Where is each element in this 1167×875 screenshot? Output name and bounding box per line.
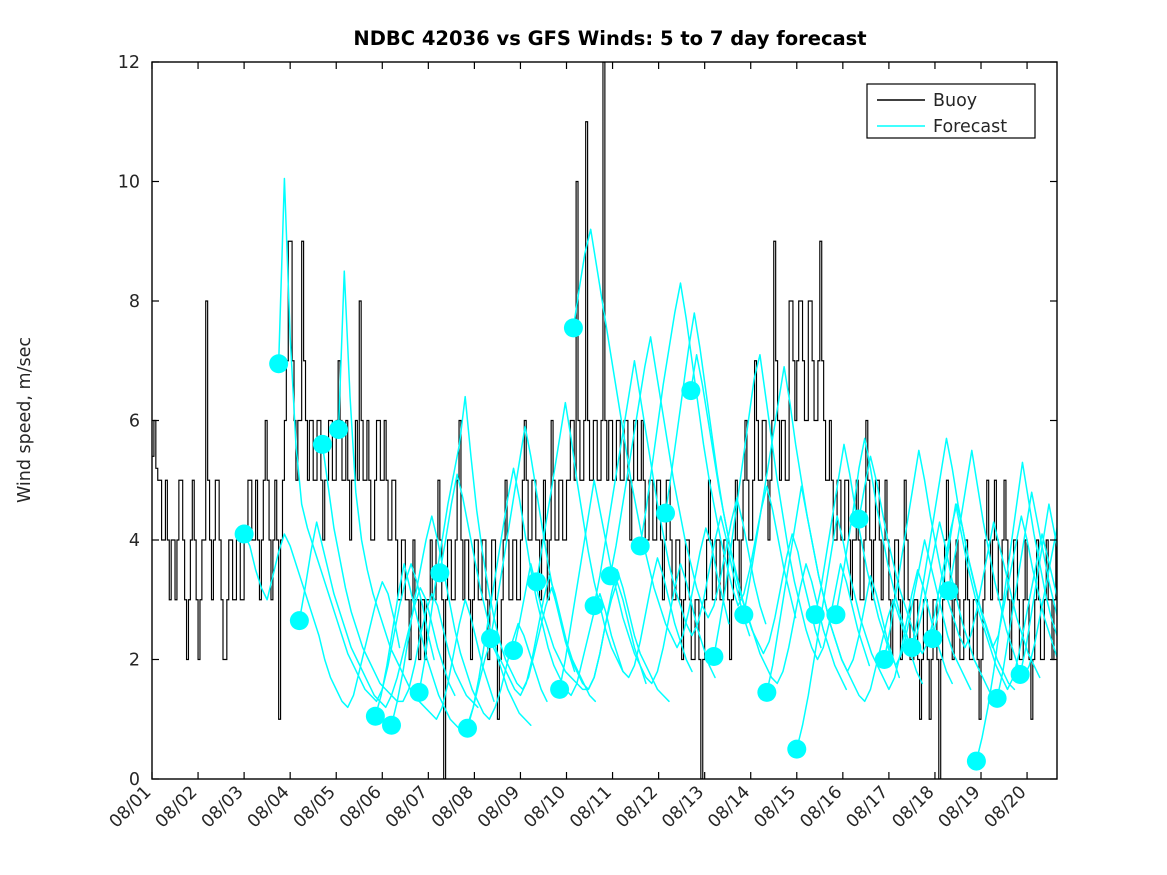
- x-tick-label: 08/11: [566, 782, 616, 832]
- forecast-start-marker: [430, 563, 449, 582]
- y-tick-label: 8: [129, 292, 140, 312]
- x-tick-label: 08/20: [981, 782, 1031, 832]
- forecast-start-marker: [704, 647, 723, 666]
- forecast-start-marker: [481, 629, 500, 648]
- forecast-start-marker: [269, 354, 288, 373]
- x-tick-label: 08/10: [520, 782, 570, 832]
- wind-speed-chart: NDBC 42036 vs GFS Winds: 5 to 7 day fore…: [0, 0, 1167, 875]
- chart-legend[interactable]: BuoyForecast: [867, 84, 1035, 138]
- forecast-start-marker: [656, 504, 675, 523]
- x-tick-label: 08/02: [152, 782, 202, 832]
- forecast-start-marker: [826, 605, 845, 624]
- forecast-start-marker: [564, 318, 583, 337]
- y-tick-label: 6: [129, 412, 140, 432]
- forecast-start-marker: [681, 381, 700, 400]
- x-tick-label: 08/03: [198, 782, 248, 832]
- forecast-start-marker: [550, 680, 569, 699]
- forecast-start-marker: [967, 752, 986, 771]
- x-tick-label: 08/04: [244, 782, 294, 832]
- x-tick-label: 08/13: [658, 782, 708, 832]
- y-tick-label: 12: [118, 53, 140, 73]
- forecast-start-marker: [734, 605, 753, 624]
- x-tick-label: 08/18: [889, 782, 939, 832]
- forecast-run-12: [537, 403, 692, 678]
- forecast-start-marker: [527, 572, 546, 591]
- x-tick-label: 08/19: [935, 782, 985, 832]
- x-axis-ticks: 08/0108/0208/0308/0408/0508/0608/0708/08…: [106, 62, 1031, 832]
- forecast-start-marker: [504, 641, 523, 660]
- y-axis-label: Wind speed, m/sec: [15, 337, 35, 503]
- x-tick-label: 08/12: [612, 782, 662, 832]
- forecast-start-marker: [235, 525, 254, 544]
- legend-label-buoy: Buoy: [933, 91, 977, 111]
- forecast-start-marker: [988, 689, 1007, 708]
- forecast-start-marker: [902, 638, 921, 657]
- forecast-start-marker: [631, 536, 650, 555]
- y-tick-label: 4: [129, 531, 140, 551]
- forecast-start-marker: [787, 740, 806, 759]
- forecast-start-marker: [290, 611, 309, 630]
- forecast-start-marker: [585, 596, 604, 615]
- forecast-run-0: [244, 534, 399, 707]
- forecast-start-marker: [806, 605, 825, 624]
- forecast-start-marker: [313, 435, 332, 454]
- x-tick-label: 08/09: [474, 782, 524, 832]
- forecast-start-marker: [939, 581, 958, 600]
- x-tick-label: 08/16: [797, 782, 847, 832]
- x-tick-label: 08/17: [843, 782, 893, 832]
- figure-canvas: NDBC 42036 vs GFS Winds: 5 to 7 day fore…: [0, 0, 1167, 875]
- y-tick-label: 10: [118, 173, 140, 193]
- forecast-start-marker: [329, 420, 348, 439]
- forecast-start-marker: [601, 566, 620, 585]
- x-tick-label: 08/15: [751, 782, 801, 832]
- forecast-start-marker: [1011, 665, 1030, 684]
- forecast-start-marker: [849, 510, 868, 529]
- forecast-start-marker: [875, 650, 894, 669]
- x-tick-label: 08/14: [704, 782, 754, 832]
- forecast-start-markers: [235, 318, 1030, 770]
- y-tick-label: 2: [129, 651, 140, 671]
- forecast-start-marker: [410, 683, 429, 702]
- forecast-start-marker: [382, 716, 401, 735]
- x-tick-label: 08/08: [428, 782, 478, 832]
- x-tick-label: 08/06: [336, 782, 386, 832]
- x-tick-label: 08/05: [290, 782, 340, 832]
- page-title: NDBC 42036 vs GFS Winds: 5 to 7 day fore…: [353, 27, 866, 50]
- x-tick-label: 08/07: [382, 782, 432, 832]
- forecast-start-marker: [366, 707, 385, 726]
- forecast-start-marker: [757, 683, 776, 702]
- forecast-start-marker: [458, 719, 477, 738]
- legend-label-forecast: Forecast: [933, 117, 1007, 137]
- forecast-start-marker: [923, 629, 942, 648]
